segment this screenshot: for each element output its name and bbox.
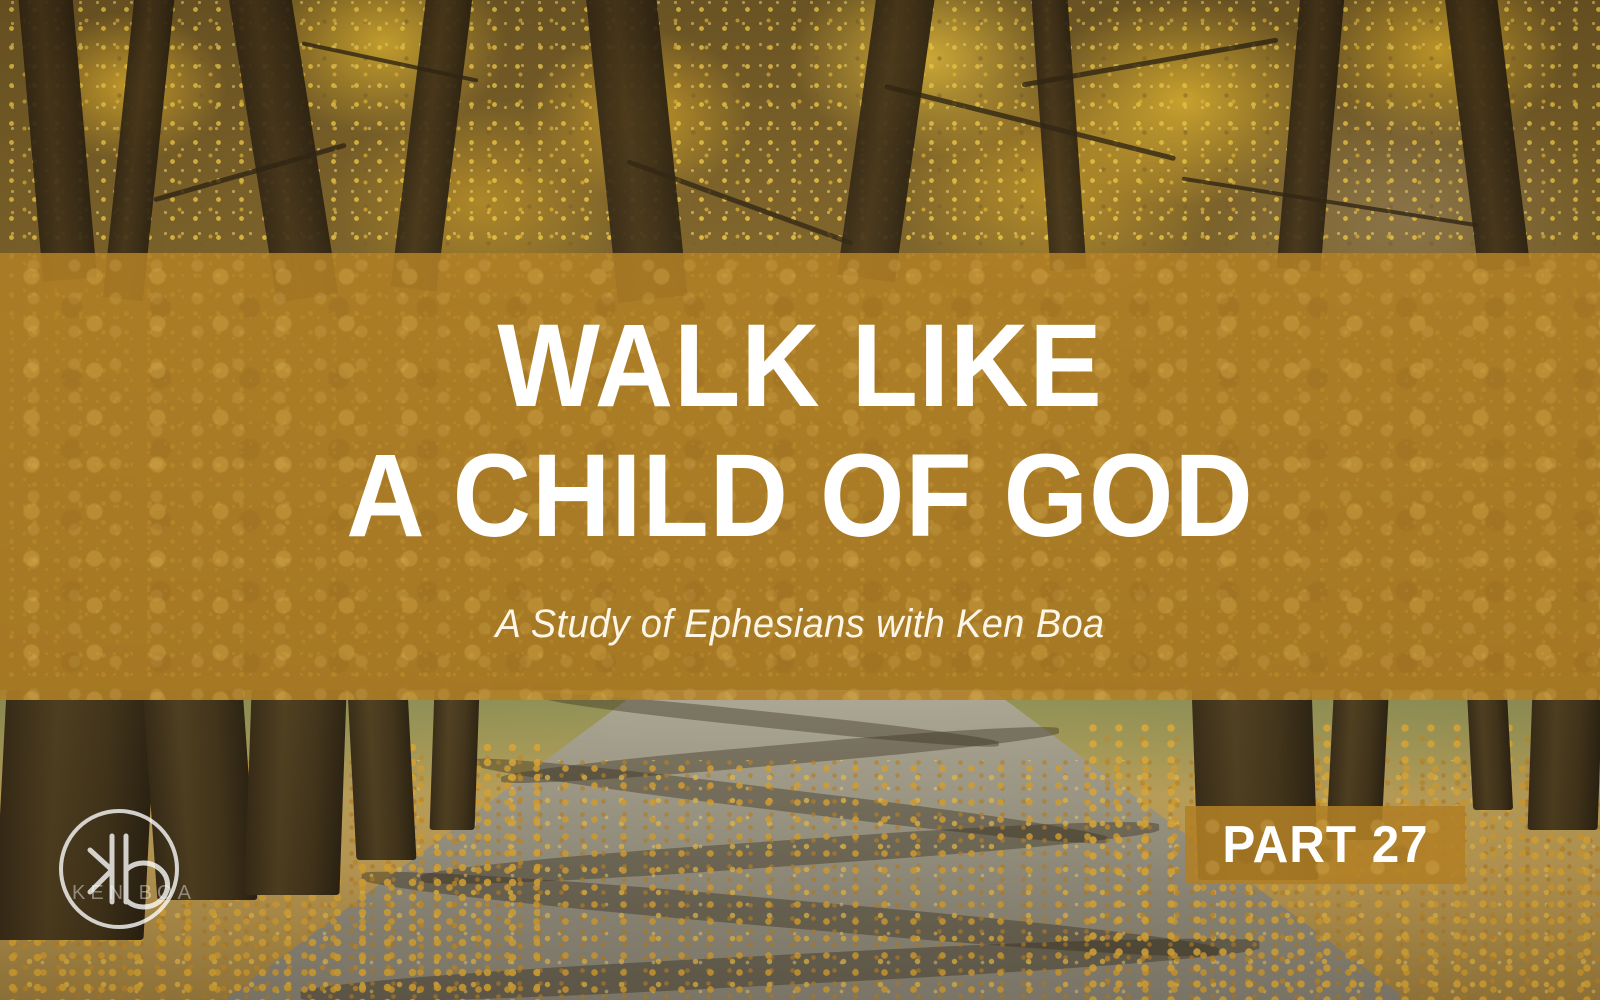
foreground-trunk <box>244 690 346 895</box>
page-title: WALK LIKE A CHILD OF GOD <box>64 306 1536 557</box>
part-badge: PART 27 <box>1185 806 1465 884</box>
part-badge-label: PART 27 <box>1222 815 1428 875</box>
title-line-1: WALK LIKE <box>64 306 1536 426</box>
foreground-trunk <box>1467 690 1513 810</box>
title-band: WALK LIKE A CHILD OF GOD A Study of Ephe… <box>0 253 1600 700</box>
foreground-trunk <box>430 690 480 830</box>
foreground-trunk <box>1528 690 1600 830</box>
foreground-trunk <box>348 690 417 860</box>
title-line-2: A CHILD OF GOD <box>64 436 1536 556</box>
subtitle: A Study of Ephesians with Ken Boa <box>40 602 1560 647</box>
title-card-slide: WALK LIKE A CHILD OF GOD A Study of Ephe… <box>0 0 1600 1000</box>
kb-circle-logo <box>56 806 182 932</box>
